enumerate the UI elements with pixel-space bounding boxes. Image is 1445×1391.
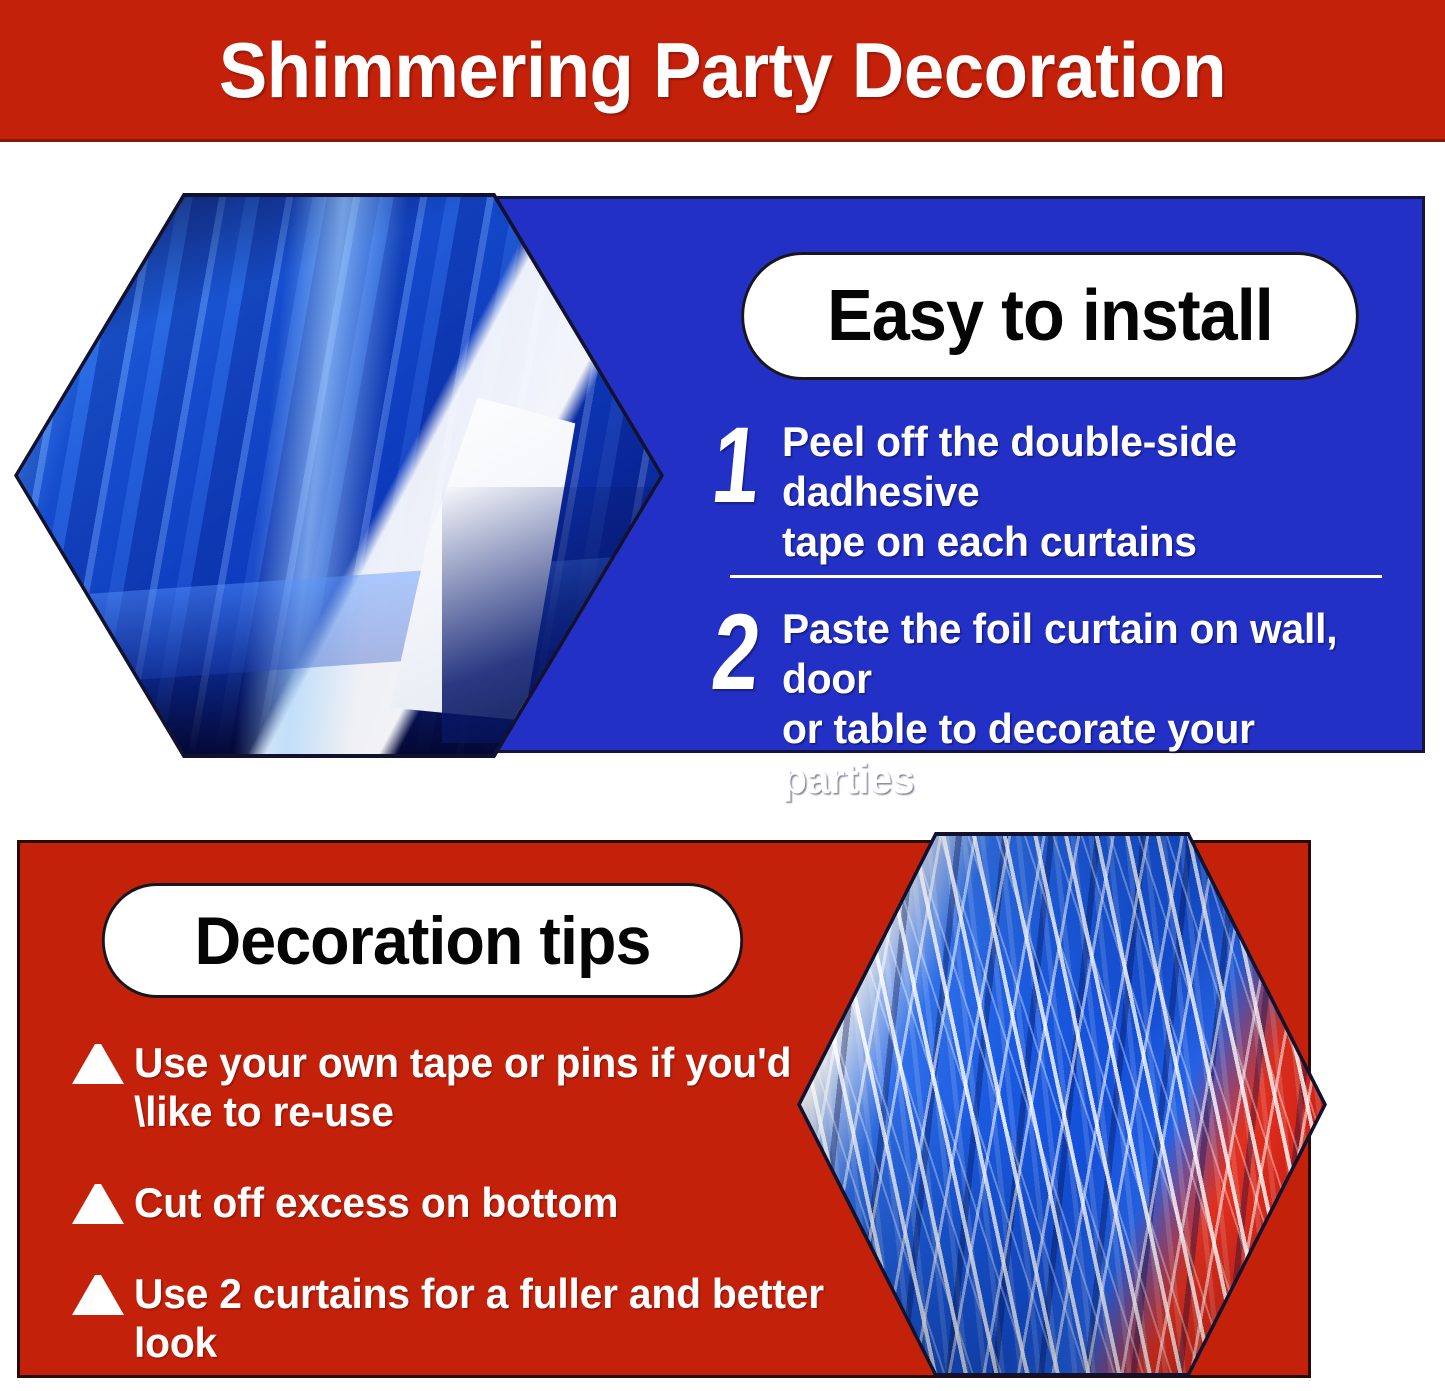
list-item: Cut off excess on bottom — [72, 1178, 892, 1227]
install-heading-label: Easy to install — [827, 275, 1273, 357]
triangle-up-icon — [72, 1275, 124, 1315]
foil-shadow-corner — [442, 487, 660, 743]
step-text-line2: or table to decorate your parties — [782, 704, 1370, 804]
tips-heading-pill: Decoration tips — [102, 883, 743, 998]
triangle-up-icon — [72, 1044, 124, 1084]
header-underline — [0, 139, 1445, 142]
step-text: Peel off the double-side dadhesive tape … — [782, 417, 1370, 567]
hexagon-photo-clip — [801, 836, 1323, 1373]
tip-text: Use your own tape or pins if you'd \like… — [134, 1038, 791, 1136]
infographic-page: Shimmering Party Decoration Easy to inst… — [0, 0, 1445, 1391]
tip-text-line2: \like to re-use — [134, 1087, 791, 1136]
install-step-2: 2 Paste the foil curtain on wall, door o… — [718, 604, 1388, 804]
tip-text-line1: Use 2 curtains for a fuller and better l… — [134, 1269, 869, 1367]
fringe-shadow-overlay — [801, 836, 1323, 1373]
install-steps-list: 1 Peel off the double-side dadhesive tap… — [718, 417, 1388, 841]
tips-heading-label: Decoration tips — [195, 902, 651, 980]
install-image-hexagon — [14, 193, 664, 758]
page-title: Shimmering Party Decoration — [51, 0, 1395, 140]
step-number: 2 — [708, 600, 768, 704]
step-text-line2: tape on each curtains — [782, 517, 1370, 567]
list-item: Use 2 curtains for a fuller and better l… — [72, 1269, 892, 1367]
step-divider — [730, 812, 1382, 815]
step-divider — [730, 575, 1382, 578]
list-item: Use your own tape or pins if you'd \like… — [72, 1038, 892, 1136]
tip-text-line1: Use your own tape or pins if you'd — [134, 1038, 791, 1087]
fringe-curtain-photo — [801, 836, 1323, 1373]
blue-foil-photo — [18, 197, 660, 754]
tip-text-line1: Cut off excess on bottom — [134, 1178, 618, 1227]
tips-image-hexagon — [797, 832, 1327, 1377]
tips-list: Use your own tape or pins if you'd \like… — [72, 1038, 892, 1391]
install-heading-pill: Easy to install — [741, 252, 1359, 380]
triangle-up-icon — [72, 1184, 124, 1224]
step-text: Paste the foil curtain on wall, door or … — [782, 604, 1370, 804]
step-text-line1: Peel off the double-side dadhesive — [782, 417, 1370, 517]
header-banner: Shimmering Party Decoration — [0, 0, 1445, 140]
install-step-1: 1 Peel off the double-side dadhesive tap… — [718, 417, 1388, 567]
tip-text: Use 2 curtains for a fuller and better l… — [134, 1269, 869, 1367]
step-number: 1 — [708, 413, 768, 517]
tip-text: Cut off excess on bottom — [134, 1178, 618, 1227]
hexagon-photo-clip — [18, 197, 660, 754]
step-text-line1: Paste the foil curtain on wall, door — [782, 604, 1370, 704]
